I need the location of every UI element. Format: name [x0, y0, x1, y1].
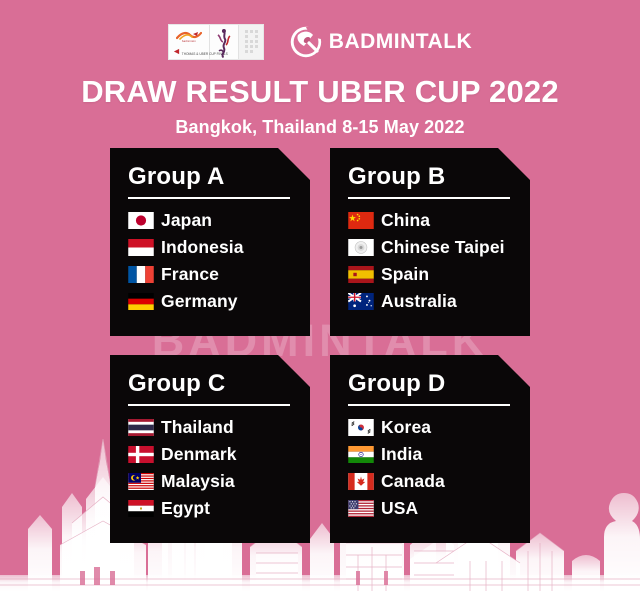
- flag-in-icon: [348, 446, 374, 463]
- list-item: Australia: [348, 290, 516, 312]
- team-name: China: [381, 210, 430, 231]
- group-card-d: Group D Korea India Canada USA: [330, 355, 530, 543]
- groups-grid: Group A Japan Indonesia France Germany: [0, 148, 640, 543]
- team-name: Australia: [381, 291, 457, 312]
- flag-de-icon: [128, 293, 154, 310]
- list-item: USA: [348, 497, 516, 519]
- shuttlecock-icon: [173, 48, 180, 55]
- flag-my-icon: [128, 473, 154, 490]
- team-name: Malaysia: [161, 471, 235, 492]
- poster-header: badminton THOMAS & UBER CUP FINALS: [0, 0, 640, 138]
- list-item: Spain: [348, 263, 516, 285]
- flag-tw-icon: [348, 239, 374, 256]
- group-card-c: Group C Thailand Denmark Malaysia Egypt: [110, 355, 310, 543]
- flag-es-icon: [348, 266, 374, 283]
- list-item: Chinese Taipei: [348, 236, 516, 258]
- flag-id-icon: [128, 239, 154, 256]
- team-name: Egypt: [161, 498, 210, 519]
- badmintalk-wordmark: BADMINTALK: [329, 30, 472, 54]
- logo-row: badminton THOMAS & UBER CUP FINALS: [0, 0, 640, 58]
- page-subtitle: Bangkok, Thailand 8-15 May 2022: [0, 117, 640, 138]
- page-title: DRAW RESULT UBER CUP 2022: [0, 74, 640, 110]
- poster-canvas: BADMINTALK badminton THOMAS & UBER CUP F…: [0, 0, 640, 591]
- team-name: Canada: [381, 471, 445, 492]
- team-name: Japan: [161, 210, 212, 231]
- thomas-uber-cup-finals-badge-icon: badminton THOMAS & UBER CUP FINALS: [168, 24, 264, 60]
- list-item: Canada: [348, 470, 516, 492]
- list-item: Korea: [348, 416, 516, 438]
- group-d-title: Group D: [344, 371, 516, 397]
- bwf-swoosh-icon: [176, 31, 202, 40]
- team-name: France: [161, 264, 219, 285]
- list-item: Indonesia: [128, 236, 296, 258]
- group-card-b: Group B China Chinese Taipei Spain Austr…: [330, 148, 530, 336]
- badge-sport-label: badminton: [182, 40, 196, 43]
- team-name: Chinese Taipei: [381, 237, 505, 258]
- team-name: Germany: [161, 291, 238, 312]
- flag-kr-icon: [348, 419, 374, 436]
- list-item: Thailand: [128, 416, 296, 438]
- divider: [348, 197, 510, 199]
- flag-dk-icon: [128, 446, 154, 463]
- divider: [128, 197, 290, 199]
- team-name: Thailand: [161, 417, 234, 438]
- flag-fr-icon: [128, 266, 154, 283]
- list-item: France: [128, 263, 296, 285]
- player-illustration-icon: [212, 27, 236, 59]
- flag-eg-icon: [128, 500, 154, 517]
- list-item: Japan: [128, 209, 296, 231]
- list-item: Denmark: [128, 443, 296, 465]
- group-c-title: Group C: [124, 371, 296, 397]
- group-a-title: Group A: [124, 164, 296, 190]
- divider: [128, 404, 290, 406]
- team-name: India: [381, 444, 422, 465]
- groups-row-1: Group A Japan Indonesia France Germany: [0, 148, 640, 336]
- flag-jp-icon: [128, 212, 154, 229]
- flag-cn-icon: [348, 212, 374, 229]
- list-item: Germany: [128, 290, 296, 312]
- flag-th-icon: [128, 419, 154, 436]
- flag-ca-icon: [348, 473, 374, 490]
- list-item: India: [348, 443, 516, 465]
- pattern-block-icon: [244, 29, 260, 55]
- team-name: Spain: [381, 264, 429, 285]
- groups-row-2: Group C Thailand Denmark Malaysia Egypt: [0, 355, 640, 543]
- team-name: Indonesia: [161, 237, 244, 258]
- team-name: USA: [381, 498, 418, 519]
- flag-us-icon: [348, 500, 374, 517]
- team-name: Denmark: [161, 444, 237, 465]
- flag-au-icon: [348, 293, 374, 310]
- group-card-a: Group A Japan Indonesia France Germany: [110, 148, 310, 336]
- team-name: Korea: [381, 417, 431, 438]
- group-b-title: Group B: [344, 164, 516, 190]
- divider: [348, 404, 510, 406]
- list-item: Malaysia: [128, 470, 296, 492]
- list-item: China: [348, 209, 516, 231]
- badmintalk-mark-icon: [290, 26, 322, 58]
- list-item: Egypt: [128, 497, 296, 519]
- badmintalk-logo: BADMINTALK: [290, 26, 472, 58]
